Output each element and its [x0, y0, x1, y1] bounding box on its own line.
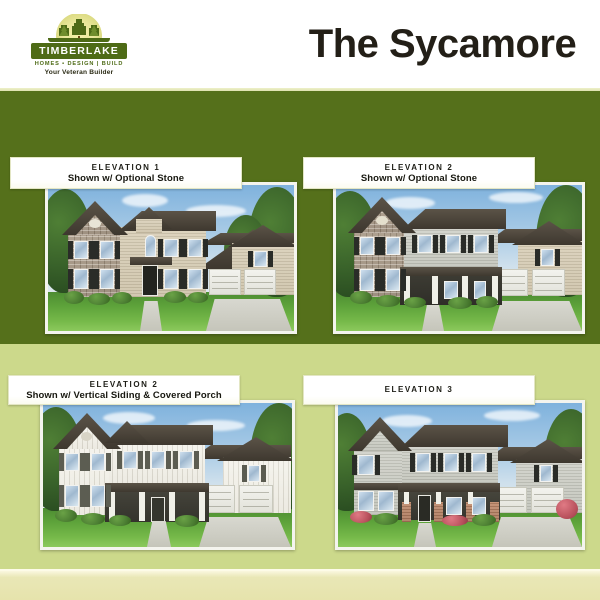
elevation-2-photo-frame: [333, 182, 585, 334]
logo-subtitle: HOMES • DESIGN | BUILD: [35, 61, 124, 67]
elevation-1-subtitle: Shown w/ Optional Stone: [68, 173, 184, 184]
flyer-page: TIMBERLAKE HOMES • DESIGN | BUILD Your V…: [0, 0, 600, 600]
elevation-2-label: ELEVATION 2 Shown w/ Optional Stone: [303, 157, 535, 189]
elevation-1-title: ELEVATION 1: [92, 163, 161, 172]
page-header: TIMBERLAKE HOMES • DESIGN | BUILD Your V…: [0, 0, 600, 88]
porch-column: [199, 492, 205, 521]
elevation-3-rendering: [338, 403, 582, 547]
brick-porch-column: [402, 502, 411, 522]
porch-column: [169, 492, 175, 521]
elevation-3-title: ELEVATION 2: [90, 380, 159, 389]
elevation-3-label: ELEVATION 2 Shown w/ Vertical Siding & C…: [8, 375, 240, 405]
logo-brand-name: TIMBERLAKE: [31, 43, 127, 59]
footer-band: [0, 571, 600, 600]
elevation-4-photo-frame: [335, 400, 585, 550]
tree-emblem-icon: [48, 14, 110, 42]
porch-column: [139, 492, 145, 521]
front-door: [418, 495, 431, 522]
logo-tagline: Your Veteran Builder: [45, 69, 114, 76]
timberlake-logo: TIMBERLAKE HOMES • DESIGN | BUILD Your V…: [30, 14, 128, 76]
elevation-4-title: ELEVATION 3: [385, 385, 454, 394]
garage-door: [209, 269, 241, 295]
elevation-1-rendering: [48, 185, 294, 331]
garage-door: [244, 269, 276, 295]
elevation-4-label: ELEVATION 3: [303, 375, 535, 405]
front-door: [151, 497, 165, 522]
elevation-2-rendering: [336, 185, 582, 331]
elevation-3-subtitle: Shown w/ Vertical Siding & Covered Porch: [26, 390, 222, 401]
elevation-2-vertical-siding-rendering: [43, 403, 292, 547]
elevation-1-photo-frame: [45, 182, 297, 334]
porch-column: [432, 276, 438, 304]
elevation-1-label: ELEVATION 1 Shown w/ Optional Stone: [10, 157, 242, 189]
garage-door: [532, 269, 565, 296]
elevation-3-photo-frame: [40, 400, 295, 550]
front-door: [142, 265, 158, 296]
elevation-2-subtitle: Shown w/ Optional Stone: [361, 173, 477, 184]
garage-door: [239, 485, 273, 513]
elevation-2-title: ELEVATION 2: [385, 163, 454, 172]
page-title: The Sycamore: [300, 22, 585, 66]
